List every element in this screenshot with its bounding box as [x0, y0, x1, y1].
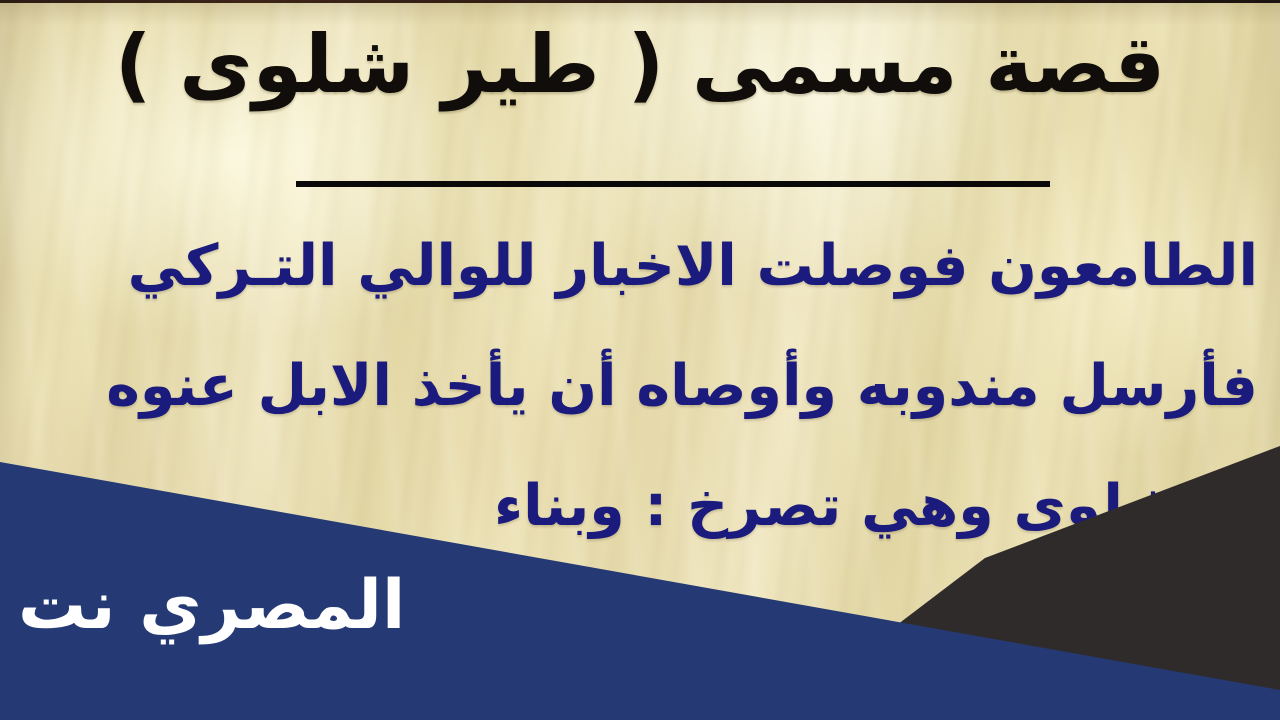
top-border-line	[0, 0, 1280, 3]
site-watermark-label: المصري نت	[18, 572, 405, 640]
page-title: قصة مسمى ( طير شلوى )	[0, 18, 1280, 112]
body-line-1: الطامعون فوصلت الاخبار للوالي التـركي	[22, 206, 1258, 326]
title-underline-rule	[296, 181, 1050, 187]
screenshot-canvas: قصة مسمى ( طير شلوى ) الطامعون فوصلت الا…	[0, 0, 1280, 720]
body-line-2: فأرسل مندوبه وأوصاه أن يأخذ الابل عنوه	[22, 326, 1258, 446]
